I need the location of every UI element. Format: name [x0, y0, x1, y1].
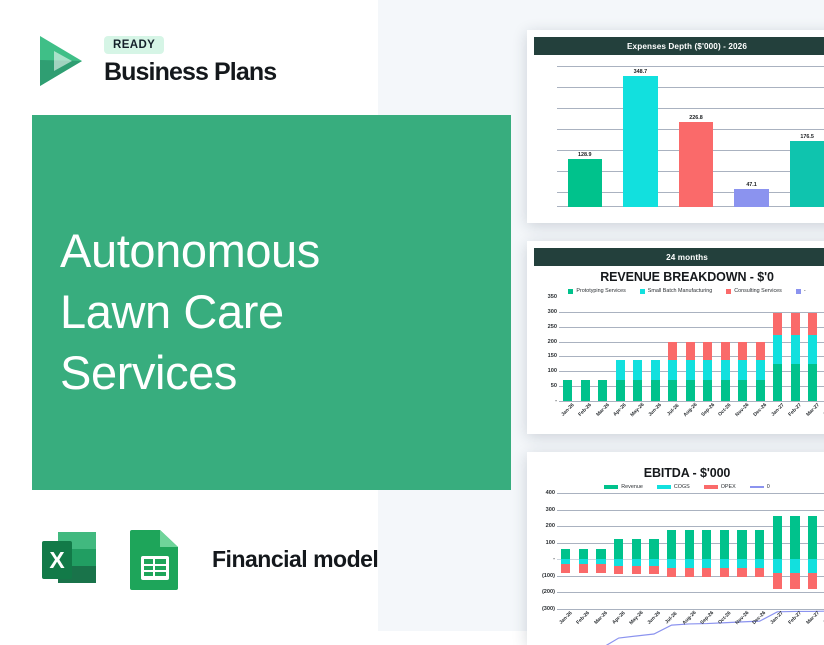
y-tick: 100 — [548, 368, 557, 374]
bar-segment[interactable] — [686, 342, 695, 359]
bar-segment[interactable] — [649, 539, 658, 560]
bar-segment[interactable] — [579, 564, 588, 574]
x-label-slot: Nov-26 — [734, 401, 752, 413]
x-label-slot: May-26 — [628, 609, 646, 621]
stacked-bar[interactable] — [702, 525, 711, 559]
x-label-slot: Dec-26 — [751, 609, 769, 621]
x-tick-label: Feb-27 — [787, 610, 803, 626]
bar-segment[interactable] — [563, 380, 572, 401]
x-tick-label: Jan-27 — [770, 610, 785, 625]
x-label-slot: Oct-26 — [716, 609, 734, 621]
bar-segment[interactable] — [614, 539, 623, 560]
bar-segment[interactable] — [703, 380, 712, 401]
bar-slot — [612, 297, 630, 401]
bar-slot — [804, 297, 822, 401]
legend-swatch-icon — [604, 485, 618, 489]
bar-slot — [752, 297, 770, 401]
legend-label: OPEX — [721, 484, 736, 490]
y-tick: 200 — [548, 339, 557, 345]
footer-row: X Financial model — [34, 524, 378, 594]
stacked-bar[interactable] — [668, 340, 677, 401]
bar-segment[interactable] — [773, 516, 782, 560]
bar-slot: 226.8 — [668, 57, 724, 207]
bar-slot — [734, 297, 752, 401]
bar-segment[interactable] — [686, 360, 695, 380]
legend-swatch-icon — [796, 289, 801, 294]
y-axis: 400 300 200 100 - (100) (200) (300) — [531, 493, 557, 609]
stacked-bar-negative[interactable] — [790, 559, 799, 593]
bar-slot — [594, 297, 612, 401]
bar-segment[interactable] — [703, 342, 712, 359]
x-tick-label: May-26 — [628, 610, 644, 626]
bar-segment[interactable] — [773, 335, 782, 365]
y-tick: 200 — [546, 523, 555, 529]
bar-segment[interactable] — [721, 342, 730, 359]
chart-card-ebitda: EBITDA - $'000 Revenue COGS OPEX 0 400 — [527, 452, 824, 645]
stacked-bar[interactable] — [720, 525, 729, 559]
bar-segment[interactable] — [632, 539, 641, 560]
x-label-slot: Jul-26 — [663, 609, 681, 621]
stacked-bar[interactable] — [686, 340, 695, 401]
stacked-bar-negative[interactable] — [596, 559, 605, 575]
stacked-bar-negative[interactable] — [773, 559, 782, 593]
bar-segment[interactable] — [737, 559, 746, 568]
bar-segment[interactable] — [790, 559, 799, 573]
bar-value-label: 348.7 — [634, 69, 648, 75]
x-tick-label: Dec-26 — [752, 402, 768, 418]
x-axis: Jan-26Feb-26Mar-26Apr-26May-26Jun-26Jul-… — [557, 609, 824, 621]
x-tick-label: Apr-26 — [613, 402, 628, 417]
bar-group — [559, 297, 824, 401]
x-tick-label: Feb-27 — [787, 402, 803, 418]
y-tick: 350 — [548, 294, 557, 300]
bar-segment[interactable] — [667, 568, 676, 577]
bar-segment[interactable] — [702, 559, 711, 568]
bar-segment[interactable] — [720, 559, 729, 568]
bar-segment[interactable] — [791, 313, 800, 334]
legend-item[interactable]: 0 — [750, 484, 770, 490]
bar-slot — [629, 297, 647, 401]
bar-segment[interactable] — [773, 573, 782, 589]
bar-segment[interactable] — [738, 342, 747, 359]
bar-slot: 47.1 — [724, 57, 780, 207]
bar-slot — [699, 297, 717, 401]
bar-segment[interactable] — [808, 559, 817, 573]
bar-slot: 348.7 — [613, 57, 669, 207]
bar[interactable]: 128.9 — [568, 159, 602, 207]
bar-segment[interactable] — [721, 360, 730, 380]
bar-segment[interactable] — [808, 573, 817, 589]
stacked-bar[interactable] — [667, 525, 676, 559]
legend-swatch-icon — [726, 289, 731, 294]
x-axis: Jan-26Feb-26Mar-26Apr-26May-26Jun-26Jul-… — [559, 401, 824, 413]
x-tick-label: Nov-26 — [734, 610, 750, 626]
play-triangle-logo-icon — [32, 30, 90, 92]
bar-slot — [769, 297, 787, 401]
x-label-slot: Jan-27 — [769, 401, 787, 413]
stacked-bar-negative[interactable] — [808, 559, 817, 593]
chart-sheet-bar: Expenses Depth ($'000) - 2026 — [534, 37, 824, 55]
x-label-slot: Nov-26 — [733, 609, 751, 621]
stacked-bar[interactable] — [773, 310, 782, 401]
bar-segment[interactable] — [685, 568, 694, 577]
bar-group: 128.9 348.7 226.8 47.1 — [557, 57, 824, 207]
stacked-bar[interactable] — [791, 310, 800, 401]
brand-lockup: READY Business Plans — [32, 30, 276, 92]
stacked-bar[interactable] — [756, 340, 765, 401]
legend-item[interactable]: COGS — [657, 484, 690, 490]
bar-slot — [733, 493, 751, 609]
bar-segment[interactable] — [649, 566, 658, 574]
x-tick-label: Feb-26 — [576, 610, 592, 626]
bar-slot — [769, 493, 787, 609]
legend-swatch-icon — [704, 485, 718, 489]
bar-segment[interactable] — [755, 530, 764, 559]
microsoft-excel-icon: X — [34, 524, 104, 594]
bar-slot — [787, 297, 805, 401]
poster-page: READY Business Plans Autonomous Lawn Car… — [0, 0, 824, 631]
svg-text:X: X — [49, 547, 65, 573]
stacked-bar[interactable] — [651, 358, 660, 401]
stacked-bar[interactable] — [633, 358, 642, 401]
bar-segment[interactable] — [756, 342, 765, 359]
bar-segment[interactable] — [720, 530, 729, 559]
bar-segment[interactable] — [614, 559, 623, 566]
legend-label: Small Batch Manufacturing — [648, 288, 712, 294]
y-tick: 50 — [551, 383, 557, 389]
title-block: Autonomous Lawn Care Services — [32, 115, 511, 490]
legend-item[interactable]: - — [796, 288, 806, 294]
bar-group — [557, 493, 824, 609]
bar-segment[interactable] — [598, 380, 607, 401]
y-tick: 300 — [546, 507, 555, 513]
x-label-slot: Mar-27 — [804, 609, 822, 621]
chart-sheet-bar: 24 months — [534, 248, 824, 266]
ready-badge: READY — [104, 36, 164, 54]
stacked-bar[interactable] — [579, 547, 588, 559]
x-label-slot: Mar-26 — [592, 609, 610, 621]
bar-segment[interactable] — [791, 364, 800, 401]
bar[interactable]: 47.1 — [734, 189, 768, 207]
x-label-slot: Oct-26 — [717, 401, 735, 413]
bar-segment[interactable] — [737, 530, 746, 559]
bar-segment[interactable] — [790, 573, 799, 589]
x-tick-label: Jun-26 — [647, 402, 663, 418]
x-label-slot: Jul-26 — [664, 401, 682, 413]
bar-segment[interactable] — [808, 364, 817, 401]
chart-card-revenue-breakdown: 24 months REVENUE BREAKDOWN - $'0 Protot… — [527, 241, 824, 434]
chart-plot-ebitda: 400 300 200 100 - (100) (200) (300) Jan-… — [531, 493, 824, 609]
bar-slot — [559, 297, 577, 401]
stacked-bar-negative[interactable] — [579, 559, 588, 575]
x-tick-label: Sep-26 — [700, 402, 716, 418]
y-tick: 100 — [546, 540, 555, 546]
stacked-bar[interactable] — [737, 525, 746, 559]
stacked-bar[interactable] — [703, 340, 712, 401]
x-label-slot: Feb-26 — [575, 609, 593, 621]
legend-swatch-icon — [640, 289, 645, 294]
x-label-slot: Sep-26 — [699, 401, 717, 413]
bar-slot — [628, 493, 646, 609]
stacked-bar[interactable] — [738, 340, 747, 401]
legend-swatch-icon — [657, 485, 671, 489]
bar-segment[interactable] — [808, 313, 817, 334]
legend-label: Revenue — [621, 484, 643, 490]
chart-plot-expenses-depth: 128.9 348.7 226.8 47.1 — [531, 57, 824, 207]
x-label-slot: Feb-27 — [787, 401, 805, 413]
y-tick: (100) — [542, 573, 555, 579]
stacked-bar[interactable] — [616, 358, 625, 401]
x-tick-label: Oct-26 — [717, 610, 732, 625]
legend-item[interactable]: OPEX — [704, 484, 736, 490]
x-tick-label: Oct-26 — [718, 402, 733, 417]
bar-slot — [751, 493, 769, 609]
stacked-bar-negative[interactable] — [614, 559, 623, 577]
x-label-slot: Feb-26 — [577, 401, 595, 413]
bar-slot — [680, 493, 698, 609]
legend-label: Consulting Services — [734, 288, 782, 294]
legend-label: 0 — [767, 484, 770, 490]
x-label-slot: Jan-27 — [769, 609, 787, 621]
bar-slot — [592, 493, 610, 609]
x-label-slot: Mar-26 — [594, 401, 612, 413]
x-label-slot: Aug-26 — [682, 401, 700, 413]
stacked-bar[interactable] — [685, 525, 694, 559]
legend-label: - — [804, 288, 806, 294]
bar-segment[interactable] — [685, 530, 694, 559]
bar-segment[interactable] — [667, 530, 676, 559]
bar-segment[interactable] — [632, 566, 641, 574]
bar-slot — [577, 297, 595, 401]
y-tick: 300 — [548, 309, 557, 315]
legend-label: COGS — [674, 484, 690, 490]
bar-segment[interactable] — [633, 360, 642, 380]
x-tick-label: May-26 — [630, 402, 646, 418]
stacked-bar[interactable] — [632, 535, 641, 559]
bar-slot — [575, 493, 593, 609]
stacked-bar[interactable] — [563, 379, 572, 401]
legend-label: Prototyping Services — [576, 288, 625, 294]
bar-slot — [716, 493, 734, 609]
bar-value-label: 47.1 — [746, 182, 757, 188]
x-tick-label: Jul-26 — [666, 403, 680, 417]
bar-slot — [682, 297, 700, 401]
x-label-slot: Apr-26 — [610, 609, 628, 621]
bar-segment[interactable] — [721, 380, 730, 401]
bar[interactable]: 348.7 — [623, 76, 657, 207]
page-title: Autonomous Lawn Care Services — [60, 220, 480, 403]
bar-segment[interactable] — [561, 564, 570, 574]
bar-slot: 128.9 — [557, 57, 613, 207]
chart-title: REVENUE BREAKDOWN - $'0 — [527, 270, 824, 284]
bar-segment[interactable] — [579, 549, 588, 560]
bar-slot — [698, 493, 716, 609]
stacked-bar-negative[interactable] — [737, 559, 746, 580]
stacked-bar[interactable] — [598, 379, 607, 401]
stacked-bar[interactable] — [790, 509, 799, 560]
stacked-bar-negative[interactable] — [720, 559, 729, 580]
x-label-slot: Jan-26 — [557, 609, 575, 621]
x-tick-label: Nov-26 — [735, 402, 751, 418]
bar[interactable]: 176.5 — [790, 141, 824, 207]
bar-segment[interactable] — [738, 360, 747, 380]
x-label-slot: Feb-27 — [786, 609, 804, 621]
x-label-slot: Jun-26 — [645, 609, 663, 621]
x-label-slot: May-26 — [629, 401, 647, 413]
chart-card-expenses-depth: Expenses Depth ($'000) - 2026 128.9 348.… — [527, 30, 824, 223]
x-tick-label: Jan-26 — [560, 402, 575, 417]
bar-segment[interactable] — [738, 380, 747, 401]
y-tick: (200) — [542, 589, 555, 595]
stacked-bar[interactable] — [614, 535, 623, 559]
stacked-bar[interactable] — [649, 535, 658, 559]
bar-segment[interactable] — [616, 380, 625, 401]
legend-item[interactable]: Consulting Services — [726, 288, 782, 294]
x-tick-label: Jul-26 — [664, 611, 678, 625]
bar-segment[interactable] — [596, 564, 605, 574]
bar-segment[interactable] — [561, 549, 570, 560]
bar-segment[interactable] — [633, 380, 642, 401]
bar-segment[interactable] — [668, 380, 677, 401]
bar-segment[interactable] — [685, 559, 694, 568]
legend-item[interactable]: Small Batch Manufacturing — [640, 288, 712, 294]
x-tick-label: Jan-27 — [770, 402, 785, 417]
bar-segment[interactable] — [773, 559, 782, 573]
bar-segment[interactable] — [808, 516, 817, 560]
chart-legend: Revenue COGS OPEX 0 — [527, 484, 824, 490]
y-tick: 150 — [548, 353, 557, 359]
x-tick-label: Apr-26 — [611, 610, 626, 625]
x-label-slot: Jun-26 — [647, 401, 665, 413]
stacked-bar-negative[interactable] — [702, 559, 711, 580]
bar-slot — [664, 297, 682, 401]
y-axis: 350 300 250 200 150 100 50 - — [533, 297, 559, 401]
bar-segment[interactable] — [756, 360, 765, 380]
bar-segment[interactable] — [649, 559, 658, 566]
x-label-slot: Aug-26 — [680, 609, 698, 621]
bar-segment[interactable] — [632, 559, 641, 566]
bar-slot — [663, 493, 681, 609]
bar-segment[interactable] — [737, 568, 746, 577]
x-tick-label: Mar-26 — [595, 402, 611, 418]
x-tick-label: Mar-27 — [805, 610, 821, 626]
x-tick-label: Jan-26 — [558, 610, 573, 625]
stacked-bar-negative[interactable] — [755, 559, 764, 580]
bar-segment[interactable] — [667, 559, 676, 568]
x-tick-label: Mar-27 — [805, 402, 821, 418]
legend-swatch-icon — [750, 486, 764, 488]
bar-segment[interactable] — [581, 380, 590, 401]
bar-value-label: 226.8 — [689, 115, 703, 121]
stacked-bar-negative[interactable] — [667, 559, 676, 580]
bar-segment[interactable] — [791, 335, 800, 365]
y-tick: (300) — [542, 606, 555, 612]
bar-segment[interactable] — [702, 568, 711, 577]
stacked-bar[interactable] — [773, 509, 782, 560]
bar-value-label: 128.9 — [578, 152, 592, 158]
legend-item[interactable]: Revenue — [604, 484, 643, 490]
x-tick-label: Sep-26 — [699, 610, 715, 626]
bar-segment[interactable] — [755, 559, 764, 568]
bar-slot — [647, 297, 665, 401]
stacked-bar-negative[interactable] — [632, 559, 641, 577]
bar-segment[interactable] — [703, 360, 712, 380]
stacked-bar[interactable] — [755, 525, 764, 559]
y-tick: 250 — [548, 324, 557, 330]
bar-segment[interactable] — [668, 360, 677, 380]
bar-segment[interactable] — [616, 360, 625, 380]
chart-title: EBITDA - $'000 — [527, 466, 824, 480]
stacked-bar-negative[interactable] — [685, 559, 694, 580]
bar-value-label: 176.5 — [800, 134, 814, 140]
bar-segment[interactable] — [756, 380, 765, 401]
bar-slot — [804, 493, 822, 609]
stacked-bar[interactable] — [596, 547, 605, 559]
x-tick-label: Mar-26 — [593, 610, 609, 626]
stacked-bar-negative[interactable] — [649, 559, 658, 577]
stacked-bar-negative[interactable] — [561, 559, 570, 575]
y-tick: - — [553, 556, 555, 562]
bar-segment[interactable] — [773, 313, 782, 334]
x-tick-label: Feb-26 — [577, 402, 593, 418]
footer-label: Financial model — [212, 546, 378, 573]
x-tick-label: Dec-26 — [752, 610, 768, 626]
chart-legend: Prototyping Services Small Batch Manufac… — [527, 288, 824, 294]
bar-segment[interactable] — [614, 566, 623, 574]
bar-segment[interactable] — [720, 568, 729, 577]
bar-slot — [717, 297, 735, 401]
bar-slot: 176.5 — [779, 57, 824, 207]
legend-swatch-icon — [568, 289, 573, 294]
stacked-bar[interactable] — [808, 509, 817, 560]
bar-segment[interactable] — [773, 364, 782, 401]
brand-text: READY Business Plans — [104, 36, 276, 87]
bar-segment[interactable] — [790, 516, 799, 560]
google-sheets-icon — [120, 524, 190, 594]
y-tick: 400 — [546, 490, 555, 496]
bar-segment[interactable] — [596, 549, 605, 560]
x-label-slot: Apr-26 — [612, 401, 630, 413]
bar-segment[interactable] — [686, 380, 695, 401]
x-tick-label: Aug-26 — [682, 402, 698, 418]
stacked-bar[interactable] — [561, 547, 570, 559]
x-label-slot: Dec-26 — [752, 401, 770, 413]
x-label-slot: Mar-27 — [804, 401, 822, 413]
bar-slot — [557, 493, 575, 609]
x-tick-label: Aug-26 — [681, 610, 697, 626]
x-tick-label: Jun-26 — [646, 610, 662, 626]
brand-name: Business Plans — [104, 58, 276, 87]
x-label-slot: Jan-26 — [559, 401, 577, 413]
bar-segment[interactable] — [651, 380, 660, 401]
bar-segment[interactable] — [651, 360, 660, 380]
bar-slot — [786, 493, 804, 609]
bar-slot — [645, 493, 663, 609]
bar-slot — [610, 493, 628, 609]
y-tick: - — [555, 398, 557, 404]
stacked-bar[interactable] — [808, 310, 817, 401]
legend-item[interactable]: Prototyping Services — [568, 288, 625, 294]
bar[interactable]: 226.8 — [679, 122, 713, 207]
bar-segment[interactable] — [702, 530, 711, 559]
stacked-bar[interactable] — [581, 379, 590, 401]
bar-segment[interactable] — [755, 568, 764, 577]
bar-segment[interactable] — [668, 342, 677, 359]
bar-segment[interactable] — [808, 335, 817, 365]
chart-plot-revenue-breakdown: 350 300 250 200 150 100 50 - Jan-26Feb-2… — [533, 297, 824, 401]
x-label-slot: Sep-26 — [698, 609, 716, 621]
stacked-bar[interactable] — [721, 340, 730, 401]
